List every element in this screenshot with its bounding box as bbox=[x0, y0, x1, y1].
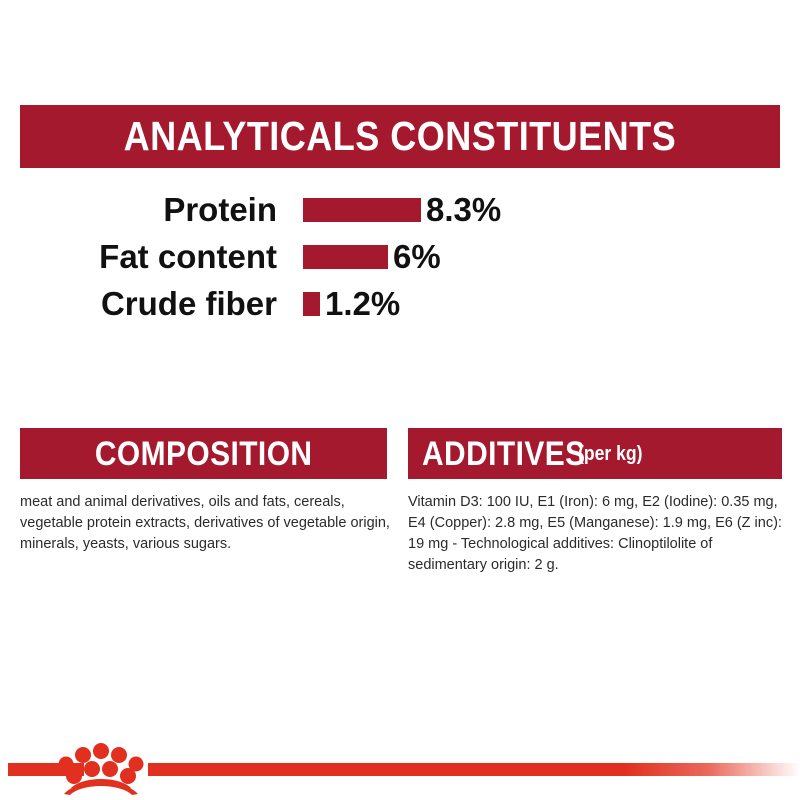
analyticals-bar bbox=[303, 245, 388, 269]
analyticals-row-label: Crude fiber bbox=[0, 287, 277, 320]
analyticals-row-bar-group: 1.2% bbox=[303, 280, 400, 327]
analyticals-row-value: 6% bbox=[393, 240, 441, 273]
footer-logo-strip bbox=[0, 740, 800, 800]
analyticals-row-value: 1.2% bbox=[325, 287, 400, 320]
analyticals-row-label: Fat content bbox=[0, 240, 277, 273]
analyticals-title: ANALYTICALS CONSTITUENTS bbox=[124, 116, 676, 157]
analyticals-row-value: 8.3% bbox=[426, 193, 501, 226]
additives-title-suffix: (per kg) bbox=[578, 444, 643, 464]
royal-canin-crown-icon bbox=[58, 738, 144, 796]
composition-header-bar: COMPOSITION bbox=[20, 428, 387, 479]
analyticals-chart: Protein 8.3% Fat content 6% Crude fiber … bbox=[0, 186, 800, 327]
analyticals-row: Crude fiber 1.2% bbox=[0, 280, 800, 327]
nutrition-panel: ANALYTICALS CONSTITUENTS Protein 8.3% Fa… bbox=[0, 0, 800, 800]
composition-body-text: meat and animal derivatives, oils and fa… bbox=[20, 492, 392, 555]
analyticals-bar bbox=[303, 292, 320, 316]
additives-header-bar: ADDITIVES (per kg) bbox=[408, 428, 782, 479]
composition-title: COMPOSITION bbox=[95, 437, 313, 471]
additives-title: ADDITIVES bbox=[422, 437, 586, 471]
analyticals-row: Protein 8.3% bbox=[0, 186, 800, 233]
footer-rule-right bbox=[148, 763, 800, 776]
analyticals-row-bar-group: 8.3% bbox=[303, 186, 501, 233]
analyticals-header-bar: ANALYTICALS CONSTITUENTS bbox=[20, 105, 780, 168]
analyticals-row: Fat content 6% bbox=[0, 233, 800, 280]
analyticals-row-bar-group: 6% bbox=[303, 233, 441, 280]
analyticals-bar bbox=[303, 198, 421, 222]
analyticals-row-label: Protein bbox=[0, 193, 277, 226]
additives-body-text: Vitamin D3: 100 IU, E1 (Iron): 6 mg, E2 … bbox=[408, 492, 786, 576]
